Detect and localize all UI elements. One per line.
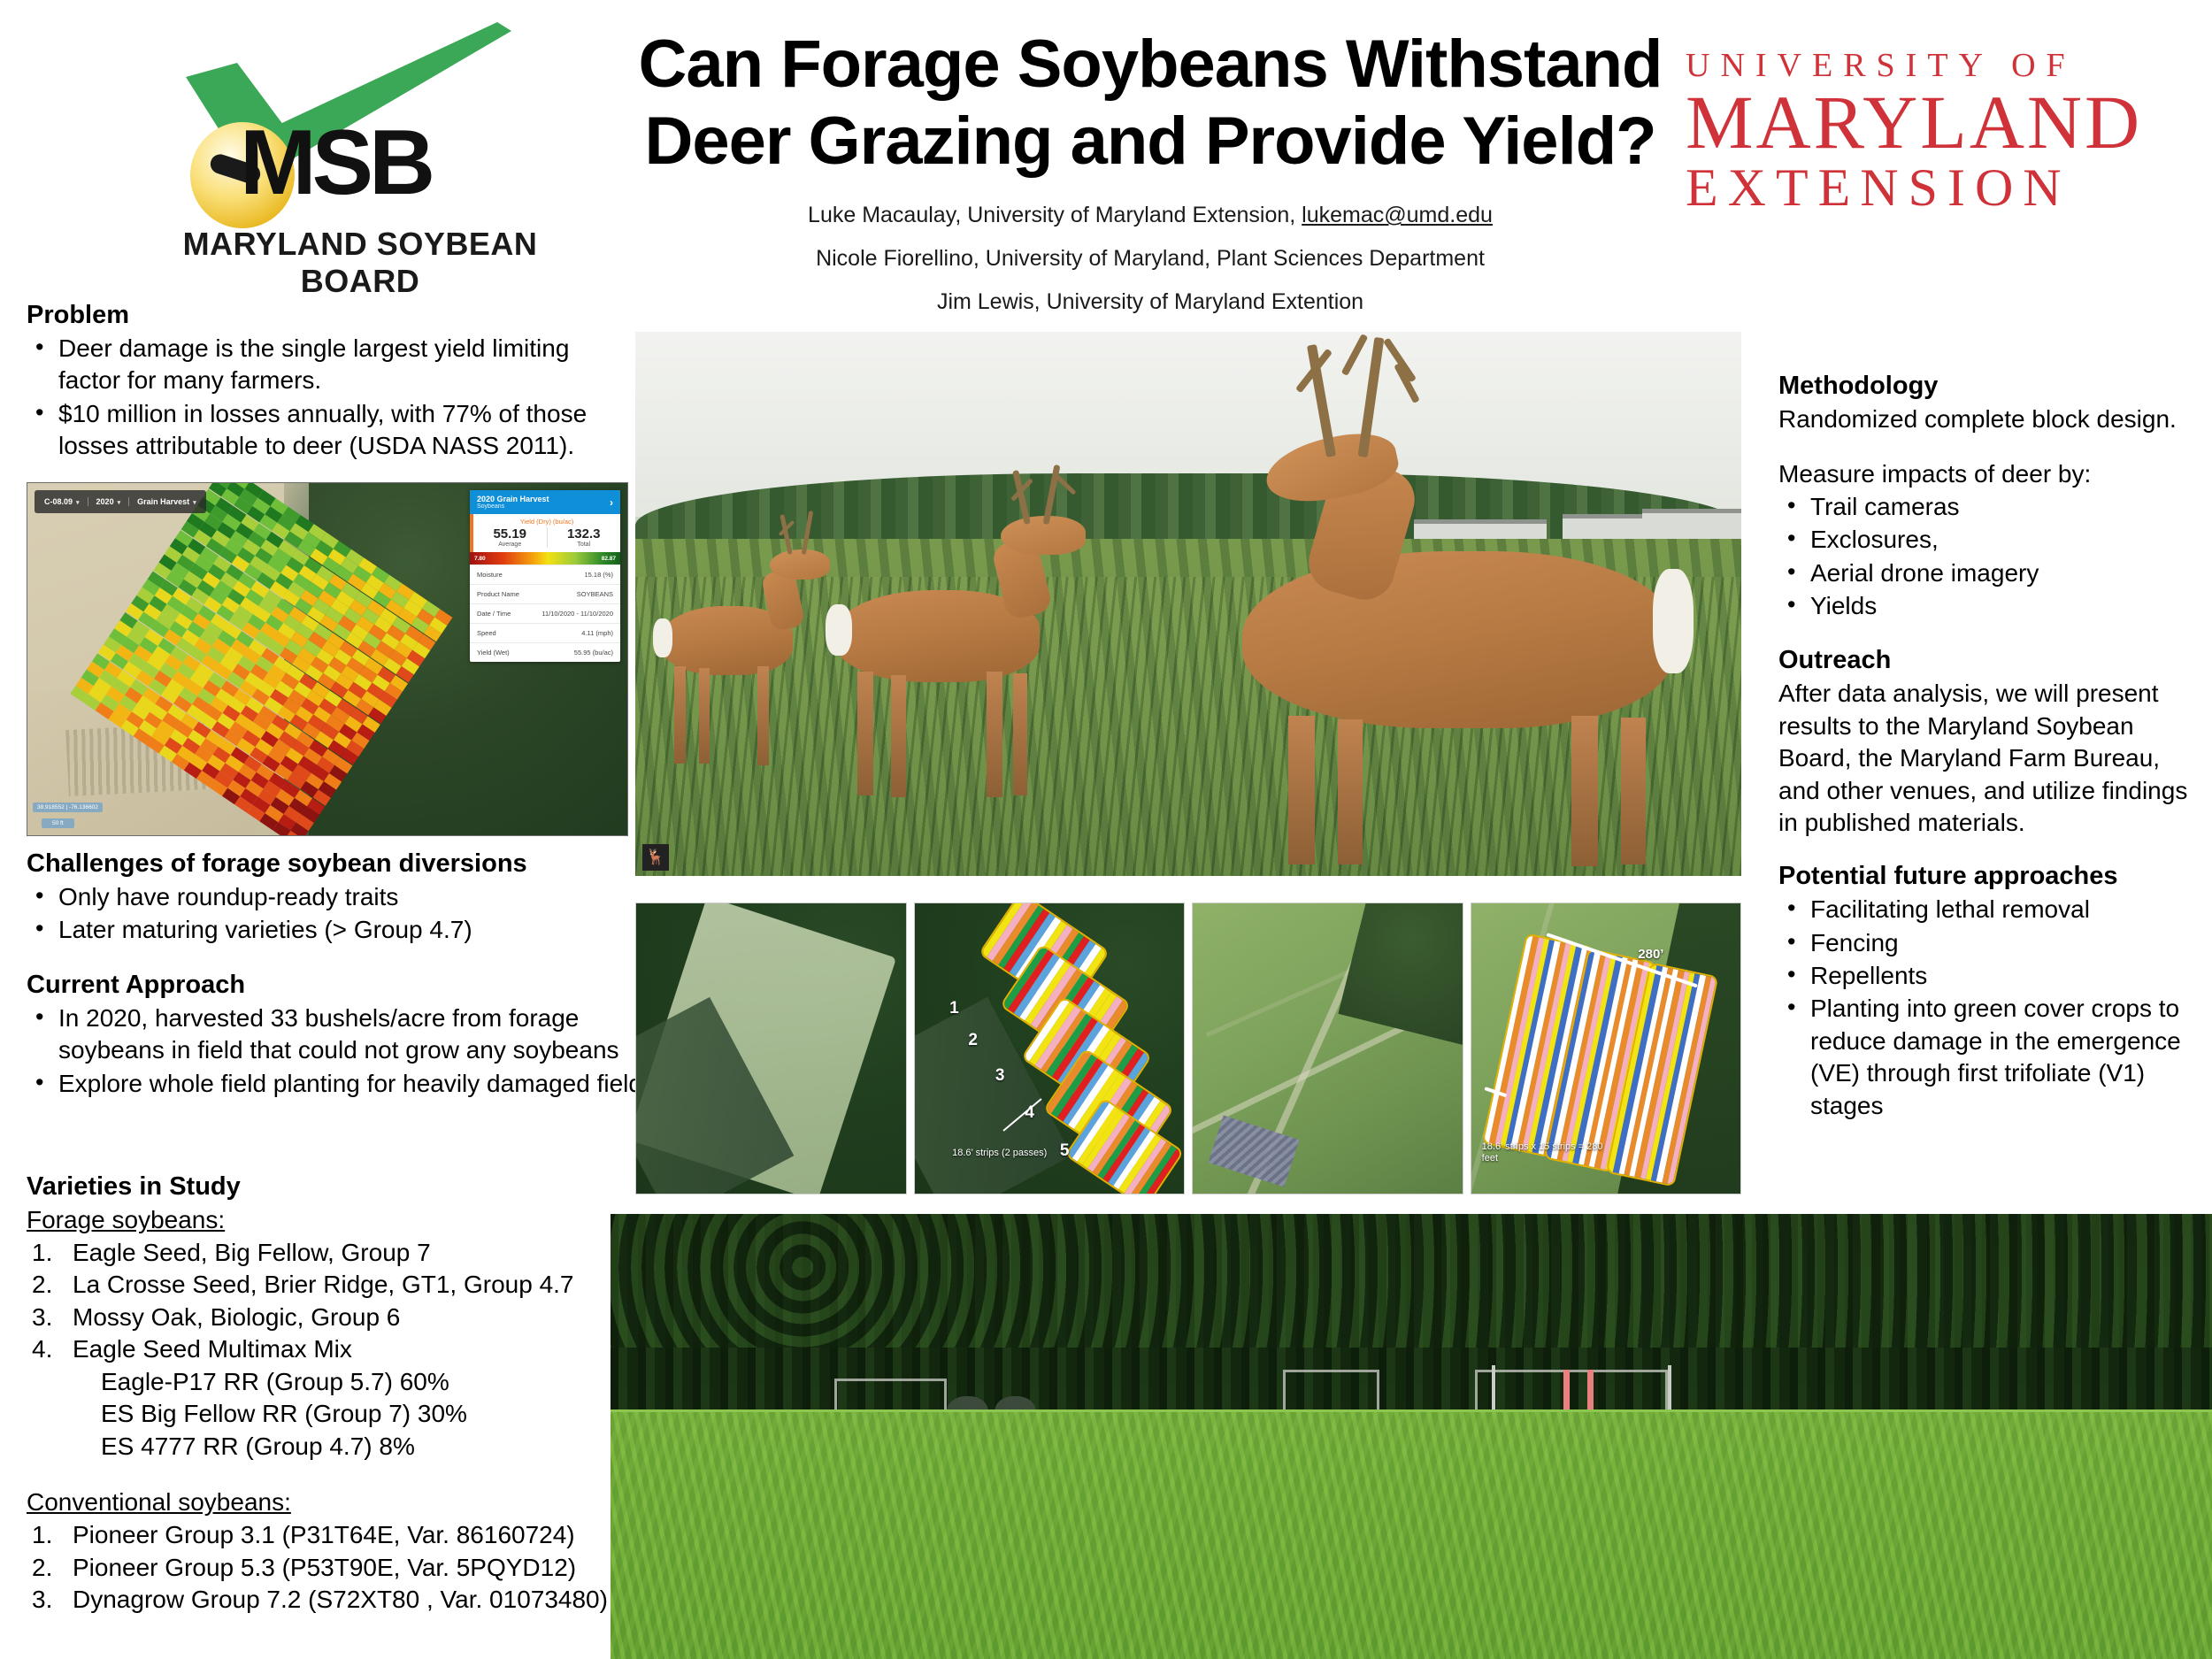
yield-color-scale: 7.80 82.87 [470,552,620,565]
average-caption: Average [473,541,547,548]
panel-subtitle: Soybeans [477,503,549,510]
table-row: Date / Time 11/10/2020 - 11/10/2020 [470,603,620,623]
list-item: Planting into green cover crops to reduc… [1778,993,2203,1122]
outreach-heading: Outreach [1778,646,2203,675]
row-label: Product Name [477,590,519,598]
list-item: Deer damage is the single largest yield … [27,333,637,397]
author-line-1: Luke Macaulay, University of Maryland Ex… [619,203,1681,228]
row-value: 11/10/2020 - 11/10/2020 [541,610,613,618]
forage-soybeans-subheading: Forage soybeans: [27,1204,646,1237]
chevron-down-icon: ▾ [193,500,196,506]
survey-flag [1587,1370,1594,1414]
tree-canopy [611,1214,2212,1348]
map-coordinates-badge: 38.918552 | -76.136602 [33,803,103,812]
author-email-link[interactable]: lukemac@umd.edu [1302,203,1493,227]
aerial-panel-3 [1192,902,1463,1194]
list-item: Yields [1778,590,2203,622]
list-item: $10 million in losses annually, with 77%… [27,398,637,463]
row-value: 15.18 (%) [584,571,613,579]
row-value: 55.95 (bu/ac) [574,649,613,657]
mix-component: Eagle-P17 RR (Group 5.7) 60% [27,1366,646,1399]
approach-bullet-list: In 2020, harvested 33 bushels/acre from … [27,1002,664,1100]
methodology-bullet-list: Trail cameras Exclosures, Aerial drone i… [1778,491,2203,623]
list-item: Trail cameras [1778,491,2203,523]
map-toolbar[interactable]: C-08.09▾ 2020▾ Grain Harvest▾ [35,490,206,513]
list-item: In 2020, harvested 33 bushels/acre from … [27,1002,664,1067]
forage-varieties-list: Eagle Seed, Big Fellow, Group 7 La Cross… [27,1237,646,1366]
row-value: SOYBEANS [577,590,613,598]
dimension-label-280ft: 280’ [1638,947,1663,962]
block-label-5: 5 [1060,1141,1070,1161]
list-item: Eagle Seed Multimax Mix [27,1333,646,1365]
list-item: Facilitating lethal removal [1778,894,2203,926]
methodology-heading: Methodology [1778,372,2203,401]
right-column: Methodology Randomized complete block de… [1778,372,2203,1123]
conventional-soybeans-subheading: Conventional soybeans: [27,1486,646,1519]
poster-title-line1: Can Forage Soybeans Withstand [619,27,1681,104]
list-item: Eagle Seed, Big Fellow, Group 7 [27,1237,646,1269]
field-selector-label: C-08.09 [44,497,73,506]
umd-extension-logo: UNIVERSITY OF MARYLAND EXTENSION [1686,49,2199,216]
future-approaches-heading: Potential future approaches [1778,862,2203,891]
row-value: 4.11 (mph) [581,629,613,637]
operation-selector[interactable]: Grain Harvest▾ [129,497,204,506]
umd-logo-line3: EXTENSION [1686,160,2199,216]
table-row: Yield (Wet) 55.95 (bu/ac) [470,642,620,662]
current-approach-heading: Current Approach [27,971,664,1000]
list-item: Exclosures, [1778,524,2203,556]
aerial-panel-2-plot-layout: 1 2 3 4 5 18.6’ strips (2 passes) [914,902,1186,1194]
average-value: 55.19 [473,527,547,541]
maryland-soybean-board-logo: MSB MARYLAND SOYBEAN BOARD [84,18,615,217]
table-row: Product Name SOYBEANS [470,584,620,603]
list-item: Later maturing varieties (> Group 4.7) [27,914,664,946]
list-item: Explore whole field planting for heavily… [27,1068,664,1100]
methodology-text: Randomized complete block design. [1778,403,2203,435]
poster-root: MSB MARYLAND SOYBEAN BOARD Can Forage So… [0,0,2212,1659]
problem-bullet-list: Deer damage is the single largest yield … [27,333,637,463]
row-label: Moisture [477,571,503,579]
map-scale-badge: 50 ft [42,818,74,828]
panel-header[interactable]: 2020 Grain Harvest Soybeans › [470,490,620,514]
deer-background [653,534,839,772]
problem-heading: Problem [27,301,637,330]
aerial-imagery-row: 1 2 3 4 5 18.6’ strips (2 passes) 280’ [635,902,1741,1194]
chevron-down-icon: ▾ [118,500,121,506]
total-caption: Total [548,541,621,548]
challenges-and-approach: Challenges of forage soybean diversions … [27,849,664,1101]
deer-trail-camera-photo: 🦌 [635,332,1741,876]
average-value-block: 55.19 Average [473,527,547,548]
poster-title-line2: Deer Grazing and Provide Yield? [619,104,1681,180]
table-row: Moisture 15.18 (%) [470,565,620,584]
conventional-varieties-list: Pioneer Group 3.1 (P31T64E, Var. 8616072… [27,1519,646,1616]
challenges-heading: Challenges of forage soybean diversions [27,849,664,879]
row-label: Speed [477,629,496,637]
mix-component: ES Big Fellow RR (Group 7) 30% [27,1398,646,1431]
strip-width-note: 18.6’ strips (2 passes) [952,1148,1058,1159]
row-label: Date / Time [477,610,511,618]
scale-min-label: 7.80 [474,556,486,562]
list-item: La Crosse Seed, Brier Ridge, GT1, Group … [27,1269,646,1301]
umd-logo-line2: MARYLAND [1686,84,2199,160]
list-item: Only have roundup-ready traits [27,881,664,913]
author-1-name: Luke Macaulay, University of Maryland Ex… [808,203,1302,227]
survey-flag [1563,1370,1570,1414]
trail-camera-watermark-icon: 🦌 [642,844,669,871]
list-item: Pioneer Group 5.3 (P53T90E, Var. 5PQYD12… [27,1552,646,1584]
umd-logo-line1: UNIVERSITY OF [1686,49,2199,84]
mix-component: ES 4777 RR (Group 4.7) 8% [27,1431,646,1463]
soybean-field-photo [611,1214,2212,1659]
operation-selector-label: Grain Harvest [137,497,189,506]
scale-max-label: 82.87 [602,556,616,562]
problem-section: Problem Deer damage is the single larges… [27,301,637,464]
list-item: Fencing [1778,927,2203,959]
future-bullet-list: Facilitating lethal removal Fencing Repe… [1778,894,2203,1122]
deer-foreground [1157,387,1741,864]
field-selector[interactable]: C-08.09▾ [36,497,88,506]
chevron-down-icon: ▾ [76,500,80,506]
harvest-detail-panel[interactable]: 2020 Grain Harvest Soybeans › Yield (Dry… [470,490,620,662]
author-line-2: Nicole Fiorellino, University of Marylan… [619,246,1681,272]
deer-middle [826,509,1118,801]
yield-map-figure: C-08.09▾ 2020▾ Grain Harvest▾ 2020 Grain… [27,482,628,836]
varieties-section: Varieties in Study Forage soybeans: Eagl… [27,1172,646,1617]
measure-intro: Measure impacts of deer by: [1778,458,2203,490]
challenges-bullet-list: Only have roundup-ready traits Later mat… [27,881,664,947]
aerial-panel-4-dimensions: 280’ 18.6’ strips x 15 strips = 280 feet [1471,902,1742,1194]
list-item: Aerial drone imagery [1778,557,2203,589]
total-value-block: 132.3 Total [547,527,621,548]
author-line-3: Jim Lewis, University of Maryland Extent… [619,289,1681,315]
msb-letters: MSB [240,117,431,209]
block-label-2: 2 [968,1031,978,1050]
block-label-3: 3 [995,1066,1005,1086]
strip-calculation-note: 18.6’ strips x 15 strips = 280 feet [1482,1141,1615,1165]
panel-title: 2020 Grain Harvest [477,495,549,503]
list-item: Mossy Oak, Biologic, Group 6 [27,1302,646,1333]
table-row: Speed 4.11 (mph) [470,623,620,642]
row-label: Yield (Wet) [477,649,510,657]
metric-label: Yield (Dry) (bu/ac) [473,518,620,526]
yield-metric-block: Yield (Dry) (bu/ac) 55.19 Average 132.3 … [470,514,620,552]
list-item: Pioneer Group 3.1 (P31T64E, Var. 8616072… [27,1519,646,1551]
list-item: Dynagrow Group 7.2 (S72XT80 , Var. 01073… [27,1584,646,1616]
outreach-text: After data analysis, we will present res… [1778,678,2203,839]
chevron-right-icon[interactable]: › [610,496,613,509]
year-selector-label: 2020 [96,497,114,506]
year-selector[interactable]: 2020▾ [88,497,130,506]
aerial-panel-1 [635,902,907,1194]
total-value: 132.3 [548,527,621,541]
varieties-heading: Varieties in Study [27,1172,646,1202]
msb-subtitle: MARYLAND SOYBEAN BOARD [139,226,581,300]
list-item: Repellents [1778,960,2203,992]
title-block: Can Forage Soybeans Withstand Deer Grazi… [619,27,1681,315]
soybean-canopy [611,1409,2212,1659]
block-label-1: 1 [949,999,959,1018]
